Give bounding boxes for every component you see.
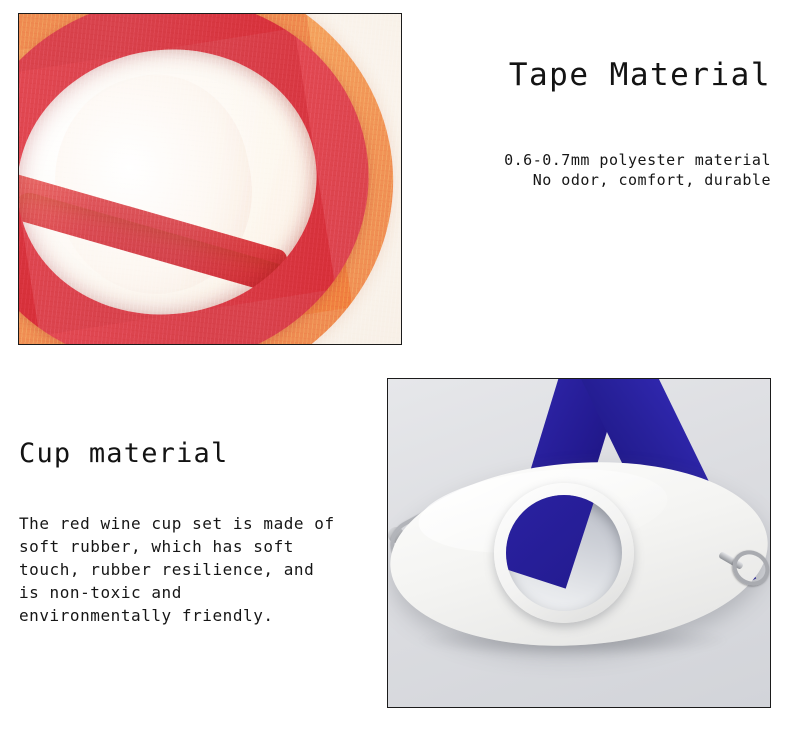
product-detail-page: Tape Material 0.6-0.7mm polyester materi…	[0, 0, 790, 748]
cup-body-line-5: environmentally friendly.	[19, 604, 369, 627]
cup-body-line-2: soft rubber, which has soft	[19, 535, 369, 558]
lanyard-visible-through-hole	[506, 495, 598, 589]
tape-subtitle-line-2: No odor, comfort, durable	[504, 170, 771, 190]
cup-opening-hole	[506, 495, 622, 611]
cup-photo-backdrop	[388, 379, 770, 707]
tape-subtitle-line-1: 0.6-0.7mm polyester material	[504, 150, 771, 170]
cup-holder-photo	[387, 378, 771, 708]
cup-section-heading: Cup material	[19, 438, 228, 469]
tape-section-subtitle: 0.6-0.7mm polyester material No odor, co…	[504, 150, 771, 190]
cup-body-line-1: The red wine cup set is made of	[19, 512, 369, 535]
cup-section-body: The red wine cup set is made of soft rub…	[19, 512, 369, 627]
tape-macro-photo	[18, 13, 402, 345]
cup-body-line-4: is non-toxic and	[19, 581, 369, 604]
tape-section-heading: Tape Material	[509, 57, 771, 93]
cup-body-line-3: touch, rubber resilience, and	[19, 558, 369, 581]
tape-photo-backdrop	[19, 14, 401, 344]
